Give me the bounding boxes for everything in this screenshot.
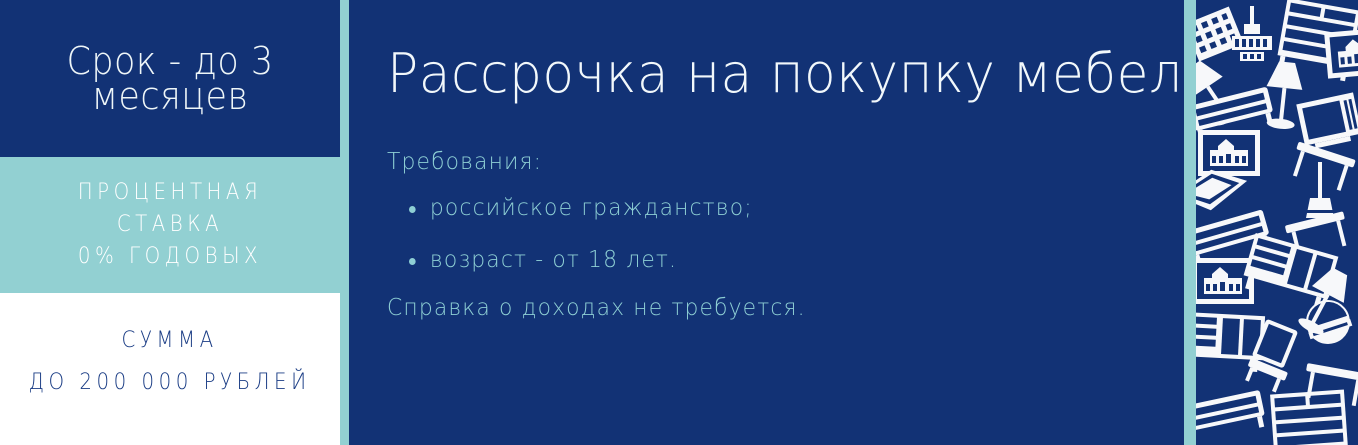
rate-panel: Процентная ставка 0% годовых (0, 157, 340, 293)
page-title: Рассрочка на покупку мебели (387, 46, 1150, 103)
pattern-accent-stripe (1184, 0, 1196, 445)
list-item-label: российское гражданство; (430, 195, 753, 221)
list-item: возраст - от 18 лет. (409, 247, 1143, 273)
sum-label: Сумма (29, 320, 311, 362)
rate-label: Процентная ставка (26, 177, 314, 241)
bullet-icon (409, 206, 416, 213)
column-divider (340, 0, 349, 445)
furniture-pattern-panel (1182, 0, 1358, 445)
term-panel: Срок - до 3 месяцев (0, 0, 340, 157)
main-content: Рассрочка на покупку мебели Требования: … (349, 0, 1182, 445)
income-note: Справка о доходах не требуется. (387, 295, 1142, 321)
left-info-column: Срок - до 3 месяцев Процентная ставка 0%… (0, 0, 340, 445)
term-text: Срок - до 3 месяцев (26, 44, 313, 114)
sum-panel: Сумма до 200 000 рублей (0, 293, 340, 445)
bullet-icon (409, 258, 416, 265)
rate-text-block: Процентная ставка 0% годовых (26, 177, 314, 273)
promo-banner: Срок - до 3 месяцев Процентная ставка 0%… (0, 0, 1358, 445)
sum-value: до 200 000 рублей (29, 362, 311, 404)
furniture-pattern-graphic (1196, 0, 1358, 445)
list-item-label: возраст - от 18 лет. (430, 247, 677, 273)
sum-text-block: Сумма до 200 000 рублей (29, 320, 311, 404)
requirements-list: российское гражданство; возраст - от 18 … (387, 195, 1182, 273)
list-item: российское гражданство; (409, 195, 1143, 221)
requirements-label: Требования: (387, 149, 1142, 175)
rate-value: 0% годовых (26, 241, 314, 273)
